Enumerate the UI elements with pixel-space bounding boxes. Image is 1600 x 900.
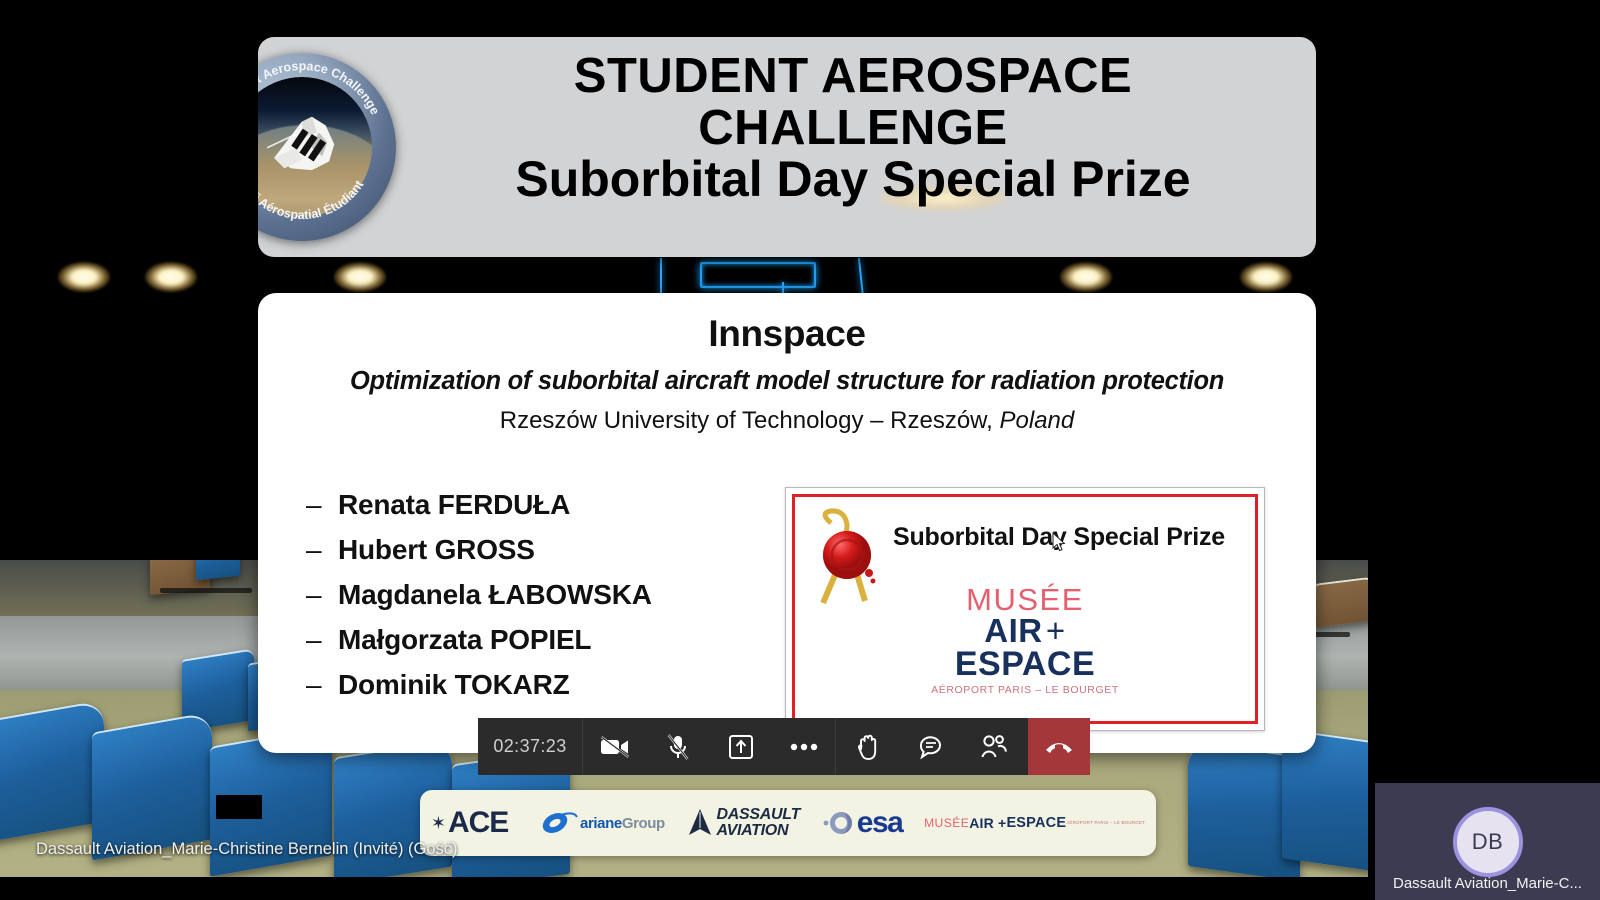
sponsor-arianegroup: arianeGroup: [530, 790, 665, 856]
asterisk-icon: ✶: [431, 813, 446, 834]
university-name: Rzeszów University of Technology – Rzesz…: [500, 407, 993, 434]
screen-artifact: [216, 795, 262, 819]
banner-text: STUDENT AEROSPACE CHALLENGE Suborbital D…: [408, 51, 1298, 206]
neon-line: [660, 258, 662, 298]
dassault-falcon-icon: [687, 808, 713, 838]
share-screen-button[interactable]: [709, 718, 772, 775]
raise-hand-button[interactable]: [836, 718, 899, 775]
microphone-muted-icon: [667, 734, 689, 760]
hangup-button[interactable]: [1028, 718, 1090, 775]
team-members-list: – Renata FERDUŁA – Hubert GROSS – Magdan…: [306, 489, 766, 714]
member-name: Renata FERDUŁA: [338, 489, 570, 521]
musee-line-3: ESPACE: [795, 647, 1255, 681]
sponsor-bar: ✶ ACE arianeGroup DASSAULT AVIATIO: [420, 790, 1156, 856]
raise-hand-icon: [856, 733, 880, 761]
bullet-dash: –: [306, 489, 338, 521]
musee-plus-icon: +: [1046, 612, 1066, 649]
stage-spotlight: [145, 262, 197, 292]
musee-line-2: AIR +: [795, 614, 1255, 647]
stage-spotlight: [1060, 262, 1112, 292]
presentation-slide: Innspace Optimization of suborbital airc…: [258, 293, 1316, 753]
esa-globe-icon: [822, 810, 856, 836]
participant-name: Dassault Aviation_Marie-C...: [1375, 875, 1600, 892]
bullet-dash: –: [306, 534, 338, 566]
camera-off-icon: [600, 736, 630, 758]
meeting-timer: 02:37:23: [478, 718, 583, 775]
presenter-caption: Dassault Aviation_Marie-Christine Bernel…: [36, 840, 458, 859]
aviation-text: AVIATION: [717, 823, 801, 839]
sponsor-musee-air-espace: MUSÉE AIR + ESPACE AÉROPORT PARIS – LE B…: [924, 790, 1145, 856]
sponsor-ace-text: ACE: [448, 806, 508, 840]
share-screen-icon: [728, 734, 754, 760]
sponsor-arianegroup-text: arianeGroup: [580, 816, 665, 831]
camera-off-button[interactable]: [583, 718, 646, 775]
musee-air-text: AIR: [984, 612, 1042, 649]
musee-sponsor-line-3: ESPACE: [1006, 816, 1066, 831]
musee-sponsor-line-2: AIR +: [969, 816, 1006, 830]
people-icon: [980, 734, 1008, 760]
stage-spotlight: [1240, 262, 1292, 292]
svg-text:Student Aerospace Challenge: Student Aerospace Challenge: [258, 59, 382, 117]
stage-light-strip: [0, 256, 1368, 298]
sponsor-esa-text: esa: [857, 806, 903, 840]
sac-logo-ring-text: Student Aerospace Challenge Défi Aérospa…: [258, 53, 396, 241]
list-item: – Dominik TOKARZ: [306, 669, 766, 701]
chat-icon: [918, 734, 944, 760]
seat-rail: [160, 588, 252, 593]
musee-line-1: MUSÉE: [795, 585, 1255, 614]
member-name: Małgorzata POPIEL: [338, 624, 591, 656]
seat: [0, 700, 104, 843]
prize-inner-border: Suborbital Day Special Prize MUSÉE AIR +…: [792, 494, 1258, 724]
sac-logo: Student Aerospace Challenge Défi Aérospa…: [258, 53, 396, 241]
banner-line-1: STUDENT AEROSPACE: [408, 51, 1298, 103]
hangup-icon: [1044, 739, 1074, 755]
participant-tile[interactable]: DB Dassault Aviation_Marie-C...: [1375, 783, 1600, 900]
meeting-control-toolbar[interactable]: 02:37:23: [478, 718, 1090, 775]
member-name: Magdanela ŁABOWSKA: [338, 579, 652, 611]
group-text: Group: [622, 815, 665, 832]
ariane-text: ariane: [580, 815, 622, 832]
dassault-text: DASSAULT: [717, 807, 801, 823]
sponsor-dassault-text: DASSAULT AVIATION: [717, 807, 801, 840]
stage-spotlight: [58, 262, 110, 292]
list-item: – Renata FERDUŁA: [306, 489, 766, 521]
bullet-dash: –: [306, 669, 338, 701]
stage-spotlight: [334, 262, 386, 292]
bullet-dash: –: [306, 624, 338, 656]
list-item: – Małgorzata POPIEL: [306, 624, 766, 656]
university-line: Rzeszów University of Technology – Rzesz…: [258, 407, 1316, 435]
member-name: Dominik TOKARZ: [338, 669, 570, 701]
project-subtitle: Optimization of suborbital aircraft mode…: [258, 367, 1316, 396]
sponsor-esa: esa: [822, 790, 903, 856]
musee-sponsor-line-1: MUSÉE: [924, 817, 969, 829]
list-item: – Magdanela ŁABOWSKA: [306, 579, 766, 611]
event-banner: Student Aerospace Challenge Défi Aérospa…: [258, 37, 1316, 257]
teams-meeting-screen: Student Aerospace Challenge Défi Aérospa…: [0, 0, 1600, 900]
prize-award-box: Suborbital Day Special Prize MUSÉE AIR +…: [785, 487, 1265, 731]
musee-line-4: AÉROPORT PARIS – LE BOURGET: [795, 684, 1255, 696]
arianegroup-icon: [530, 810, 580, 836]
microphone-muted-button[interactable]: [646, 718, 709, 775]
member-name: Hubert GROSS: [338, 534, 535, 566]
sponsor-dassault-aviation: DASSAULT AVIATION: [687, 790, 801, 856]
chat-button[interactable]: [899, 718, 962, 775]
country-name: Poland: [1000, 407, 1075, 434]
neon-line: [858, 258, 864, 298]
seat: [1316, 576, 1368, 627]
list-item: – Hubert GROSS: [306, 534, 766, 566]
avatar: DB: [1453, 807, 1523, 877]
musee-air-espace-logo: MUSÉE AIR + ESPACE AÉROPORT PARIS – LE B…: [795, 585, 1255, 696]
svg-text:Défi Aérospatial Étudiant: Défi Aérospatial Étudiant: [258, 177, 367, 222]
bullet-dash: –: [306, 579, 338, 611]
seat: [92, 711, 212, 860]
team-name: Innspace: [258, 313, 1316, 355]
participants-button[interactable]: [962, 718, 1025, 775]
musee-sponsor-line-4: AÉROPORT PARIS – LE BOURGET: [1066, 821, 1145, 826]
banner-line-3: Suborbital Day Special Prize: [408, 153, 1298, 206]
more-options-icon: [790, 743, 818, 751]
banner-line-2: CHALLENGE: [408, 103, 1298, 155]
more-options-button[interactable]: [772, 718, 835, 775]
neon-frame: [700, 262, 816, 288]
mouse-cursor: [1052, 532, 1066, 552]
